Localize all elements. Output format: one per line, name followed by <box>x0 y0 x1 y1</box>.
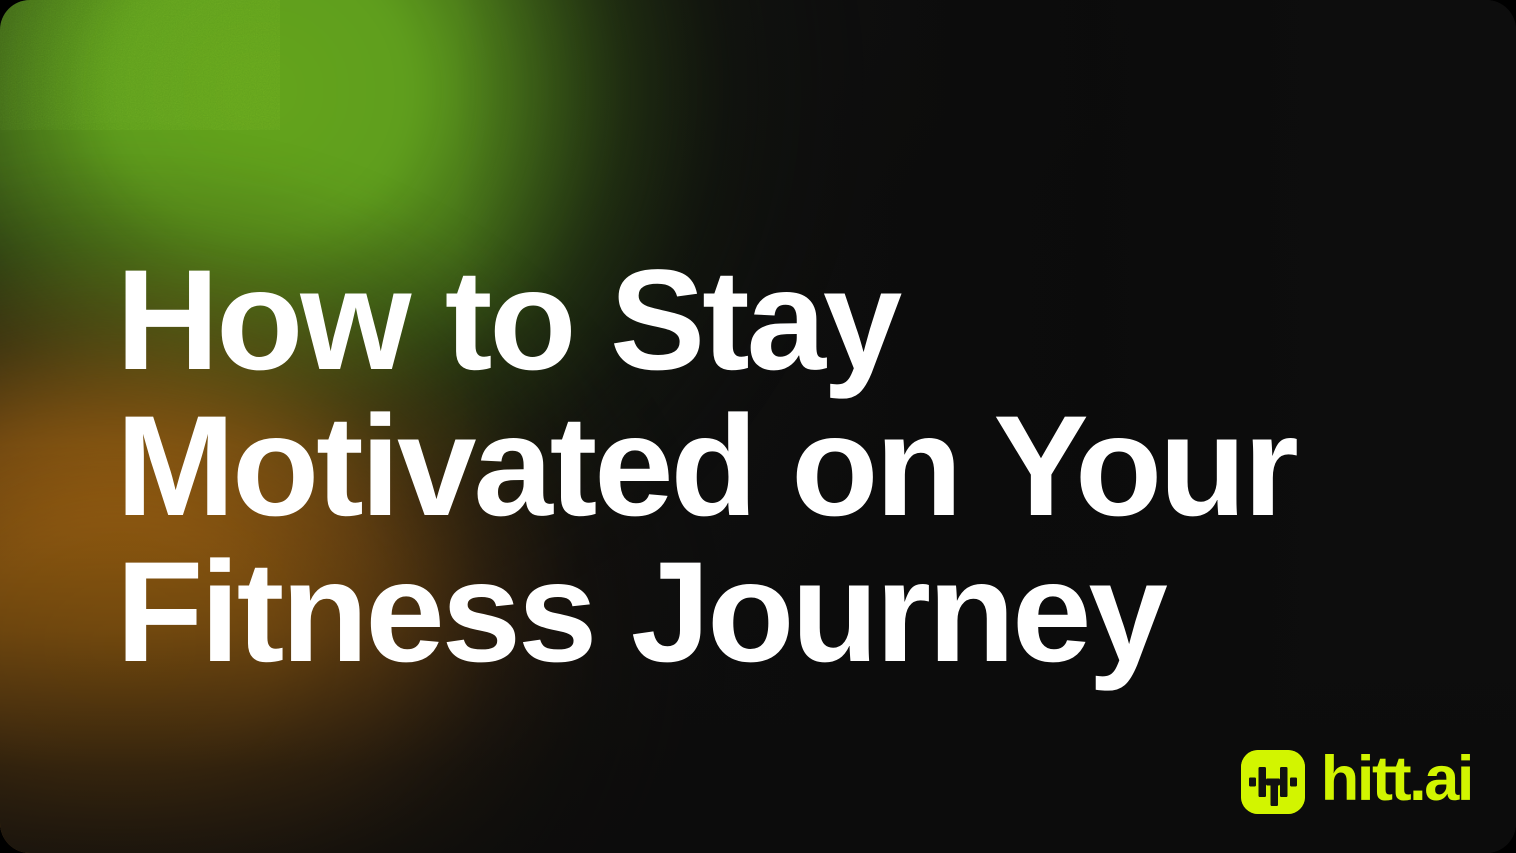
hero-card: How to Stay Motivated on Your Fitness Jo… <box>0 0 1516 853</box>
dumbbell-icon <box>1241 750 1305 814</box>
brand-logo[interactable]: hitt.ai <box>1241 748 1472 815</box>
page-title: How to Stay Motivated on Your Fitness Jo… <box>116 248 1436 686</box>
brand-wordmark: hitt.ai <box>1321 748 1472 815</box>
